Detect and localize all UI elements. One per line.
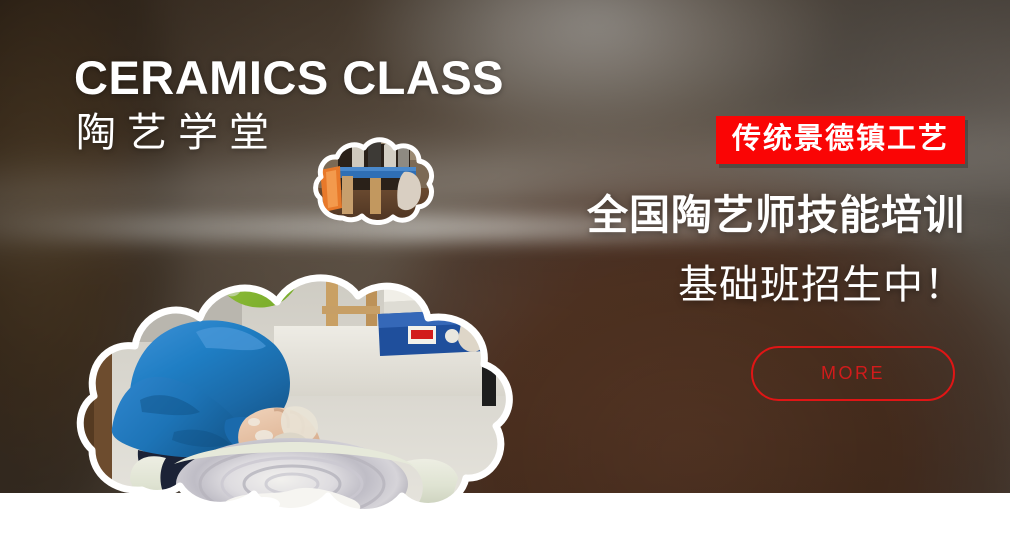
ceramics-class-banner: CERAMICS CLASS 陶艺学堂 传统景德镇工艺 全国陶艺师技能培训 基础…: [0, 0, 1010, 538]
status-badge: 传统景德镇工艺: [716, 116, 965, 164]
title-chinese: 陶艺学堂: [76, 111, 504, 155]
promo-headline: 全国陶艺师技能培训: [545, 192, 965, 239]
promo-subline: 基础班招生中！: [545, 262, 965, 308]
title-english: CERAMICS CLASS: [74, 54, 504, 103]
title-group: CERAMICS CLASS 陶艺学堂: [74, 54, 504, 155]
cloud-photo-main: [78, 222, 530, 512]
promo-group: 传统景德镇工艺 全国陶艺师技能培训 基础班招生中！ MORE: [545, 116, 965, 401]
more-button[interactable]: MORE: [751, 346, 955, 401]
